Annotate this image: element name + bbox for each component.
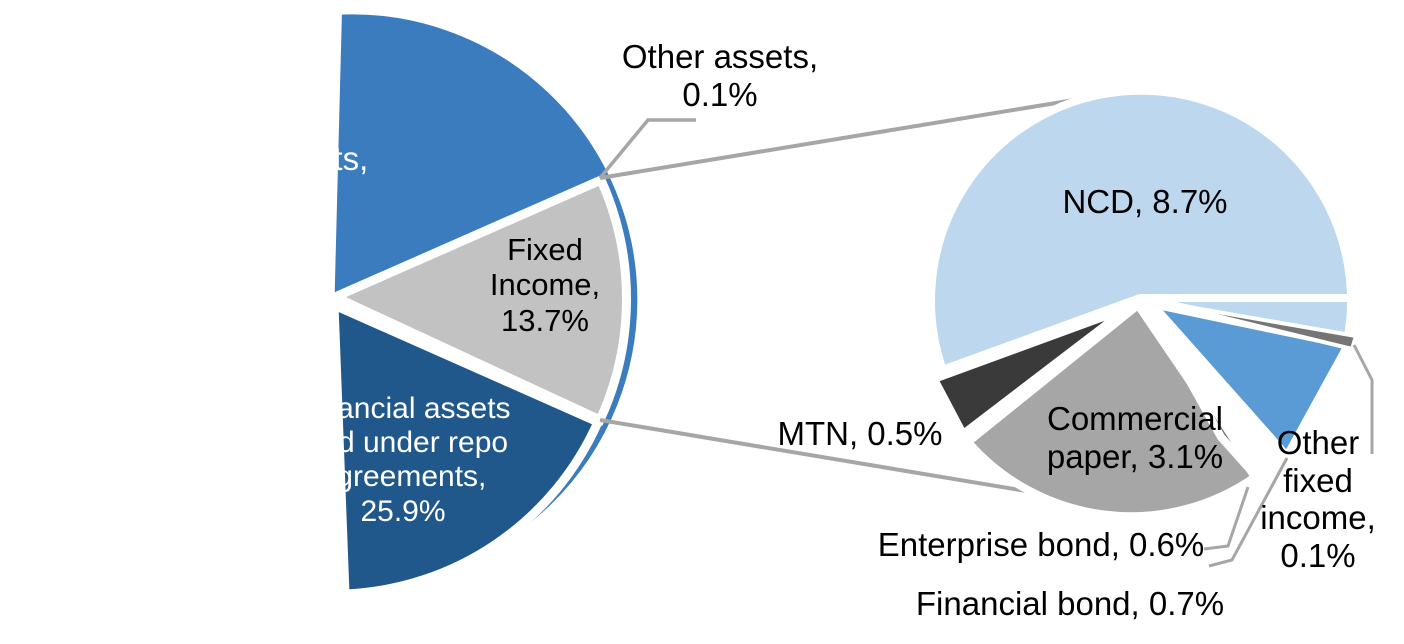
label-mtn: MTN, 0.5% [760,415,960,453]
label-fixed-income: Fixed Income, 13.7% [470,232,620,338]
label-financial-bond: Financial bond, 0.7% [900,585,1240,623]
label-other-fixed-income: Other fixed income, 0.1% [1258,424,1378,574]
label-other-assets: Other assets, 0.1% [600,38,840,113]
slice-ncd[interactable] [931,91,1404,370]
label-commercial-paper: Commercial paper, 3.1% [1030,400,1240,475]
label-bank-deposits: Bank deposits, 60.3% [120,140,400,215]
label-enterprise-bond: Enterprise bond, 0.6% [866,526,1216,564]
label-ncd: NCD, 8.7% [1035,183,1255,221]
label-repo-agreements: Financial assets held under repo agreeme… [258,392,548,529]
pie-of-pie-chart: Bank deposits, 60.3% Financial assets he… [0,0,1404,644]
